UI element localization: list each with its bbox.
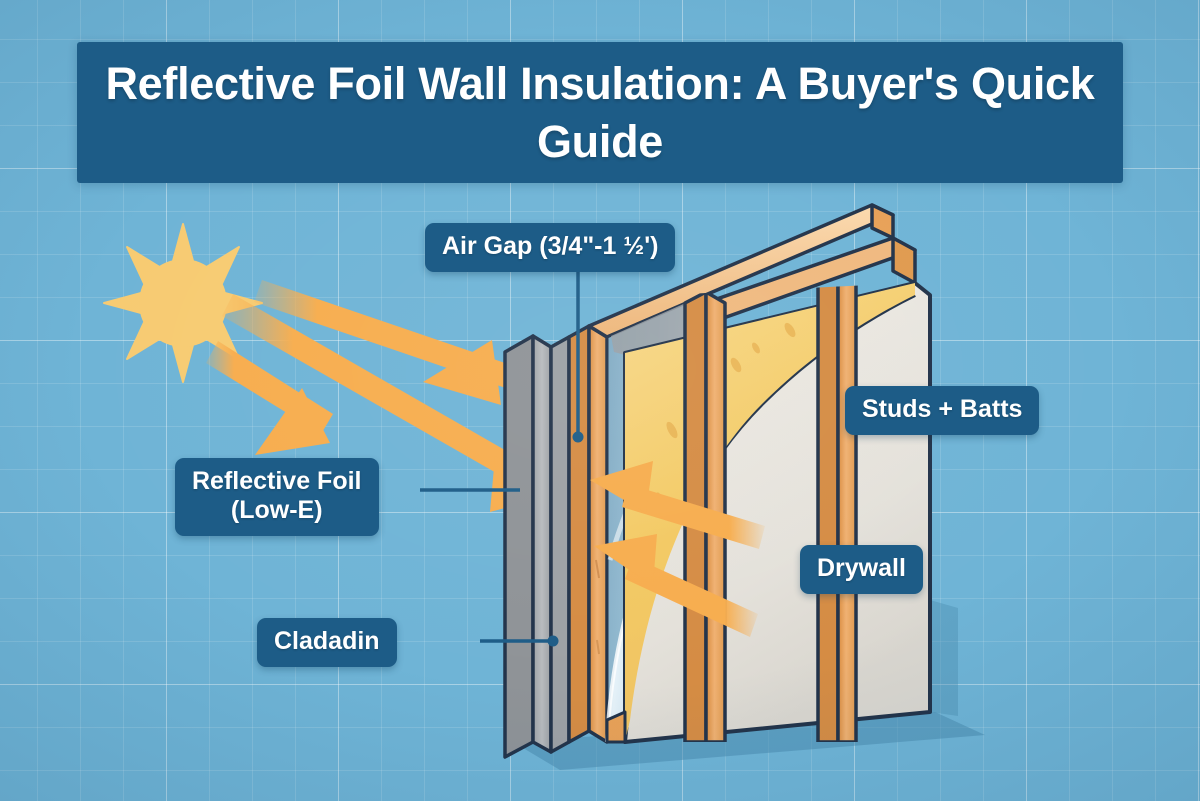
cladding-layer	[505, 336, 551, 757]
infographic-canvas: Reflective Foil Wall Insulation: A Buyer…	[0, 0, 1200, 801]
stud-right	[818, 247, 856, 742]
callout-studs-batts[interactable]: Studs + Batts	[845, 386, 1039, 435]
callout-air-gap[interactable]: Air Gap (3/4"-1 ½')	[425, 223, 675, 272]
cladding-layer-inner	[551, 337, 569, 752]
title-banner: Reflective Foil Wall Insulation: A Buyer…	[77, 42, 1123, 183]
callout-drywall[interactable]: Drywall	[800, 545, 923, 594]
page-title: Reflective Foil Wall Insulation: A Buyer…	[77, 55, 1123, 169]
batten-layer	[569, 326, 607, 742]
callout-cladding[interactable]: Cladadin	[257, 618, 397, 667]
callout-reflective-foil[interactable]: Reflective Foil (Low-E)	[175, 458, 379, 536]
